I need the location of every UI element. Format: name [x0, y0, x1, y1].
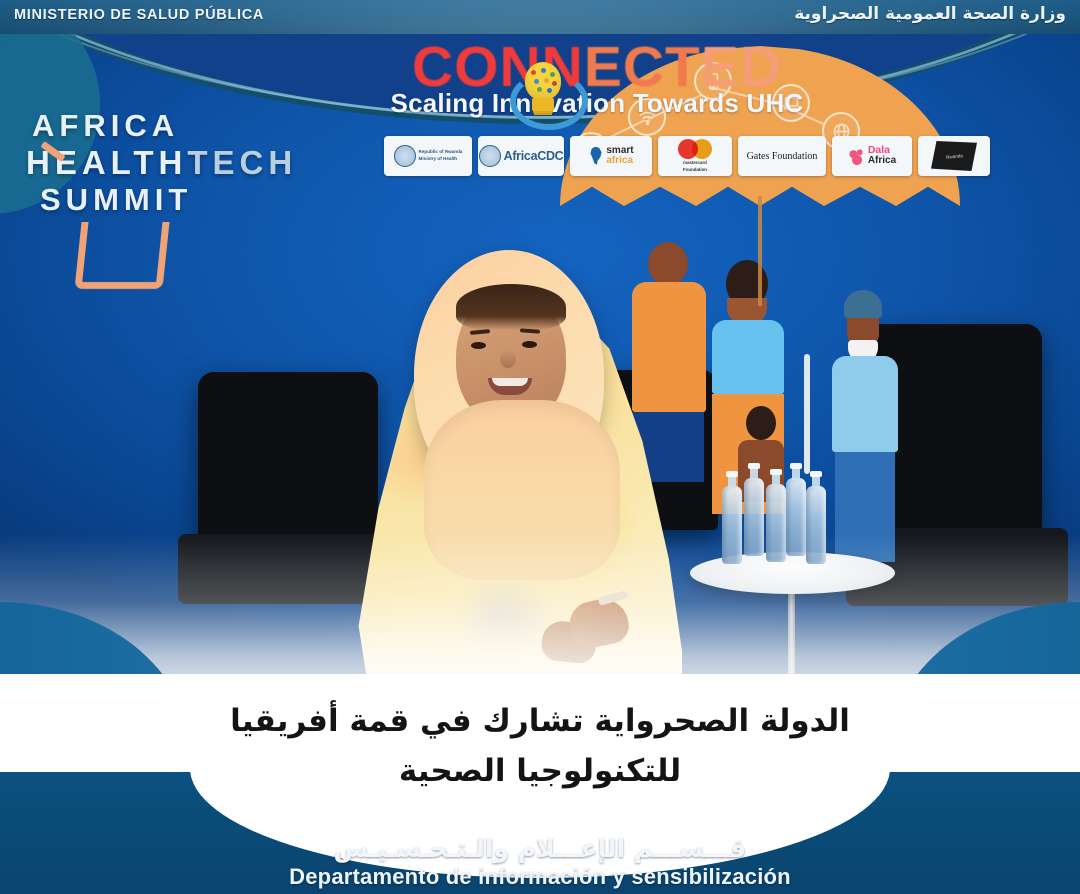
partner-dark-mark-icon: Rwanda [931, 141, 977, 171]
connected-tagline: Scaling Innovation Towards UHC [382, 88, 812, 119]
ministry-title-arabic: وزارة الصحة العمومية الصحراوية [794, 4, 1066, 24]
table-stem [788, 584, 795, 674]
lightbulb-glass [525, 62, 561, 100]
sponsor-logo-africa-cdc: AfricaCDC [478, 136, 564, 176]
connected-wordmark: CONNECTED [382, 40, 812, 94]
sponsor-logo-strip: Republic of Rwanda Ministry of Health Af… [384, 136, 990, 176]
figure-elderly-man [832, 290, 898, 562]
water-bottle-2 [744, 478, 764, 556]
mastercard-line2: Foundation [683, 167, 707, 173]
africa-cdc-seal-icon [479, 145, 501, 167]
nose [500, 350, 516, 368]
sponsor-logo-smart-africa: smart africa [570, 136, 652, 176]
subject-delegate [352, 250, 682, 674]
sponsor-logo-gates-foundation: Gates Foundation [738, 136, 826, 176]
connected-event-logo: CONNECTED Scaling Innovation Towards UHC [382, 40, 812, 119]
footer-text-block: قـــســـم الإعـــلام والـتـحـسـيـس Depar… [0, 834, 1080, 890]
dala-africa-mark-icon [848, 147, 866, 165]
mastercard-rings-icon [678, 139, 712, 159]
summit-logo-line-summit: SUMMIT [40, 184, 297, 216]
water-bottle-1 [722, 486, 742, 564]
africa-cdc-label: AfricaCDC [504, 149, 564, 163]
eye-left [471, 342, 486, 349]
chair-left [198, 372, 378, 548]
caption-line-1: الدولة الصحرواية تشارك في قمة أفريقيا [230, 703, 850, 739]
summit-logo-tech: TECH [187, 144, 297, 181]
water-bottle-4 [786, 478, 806, 556]
caption-block: الدولة الصحرواية تشارك في قمة أفريقيا لل… [0, 676, 1080, 816]
sponsor-logo-rwanda-moh: Republic of Rwanda Ministry of Health [384, 136, 472, 176]
umbrella-pole [758, 196, 762, 306]
sponsor-logo-partner-dark: Rwanda [918, 136, 990, 176]
rwanda-logo-line2: Ministry of Health [419, 156, 463, 163]
caption-line-2: للتكنولوجيا الصحية [399, 753, 681, 789]
africa-map-icon [588, 147, 603, 166]
teeth [492, 378, 528, 386]
smart-africa-label2: africa [606, 156, 633, 166]
rwanda-logo-line1: Republic of Rwanda [419, 149, 463, 156]
sponsor-logo-mastercard-foundation: mastercard Foundation [658, 136, 732, 176]
rwanda-seal-icon [394, 145, 416, 167]
lightbulb-icon [510, 60, 576, 126]
water-bottle-3 [766, 484, 786, 562]
footer-department-arabic: قـــســـم الإعـــلام والـتـحـسـيـس [0, 834, 1080, 863]
mastercard-line1: mastercard [683, 160, 707, 166]
summit-logo-line-healthtech: HEALTHTECH [26, 146, 297, 180]
gates-foundation-label: Gates Foundation [747, 151, 818, 162]
event-photograph: AFRICA HEALTHTECH SUMMIT CONNECTED Scali… [0, 34, 1080, 674]
poster-root: MINISTERIO DE SALUD PÚBLICA وزارة الصحة … [0, 0, 1080, 894]
crutch-icon [804, 354, 810, 474]
lightbulb-base [532, 98, 554, 111]
ministry-title-spanish: MINISTERIO DE SALUD PÚBLICA [14, 7, 264, 23]
africa-healthtech-summit-logo: AFRICA HEALTHTECH SUMMIT [26, 110, 297, 216]
dala-label2: Africa [868, 156, 896, 167]
partner-dark-label: Rwanda [945, 153, 962, 160]
lightbulb-dots [529, 66, 557, 96]
sponsor-logo-dala-africa: Dala Africa [832, 136, 912, 176]
shawl-front-drape [424, 400, 620, 580]
summit-logo-line-africa: AFRICA [32, 110, 297, 142]
hairline [456, 284, 566, 330]
summit-logo-bracket-mark [74, 222, 169, 289]
footer-department-spanish: Departamento de información y sensibiliz… [0, 864, 1080, 890]
water-bottle-5 [806, 486, 826, 564]
ministry-header-bar: MINISTERIO DE SALUD PÚBLICA وزارة الصحة … [0, 0, 1080, 34]
side-table [690, 552, 895, 594]
eye-right [522, 341, 537, 348]
